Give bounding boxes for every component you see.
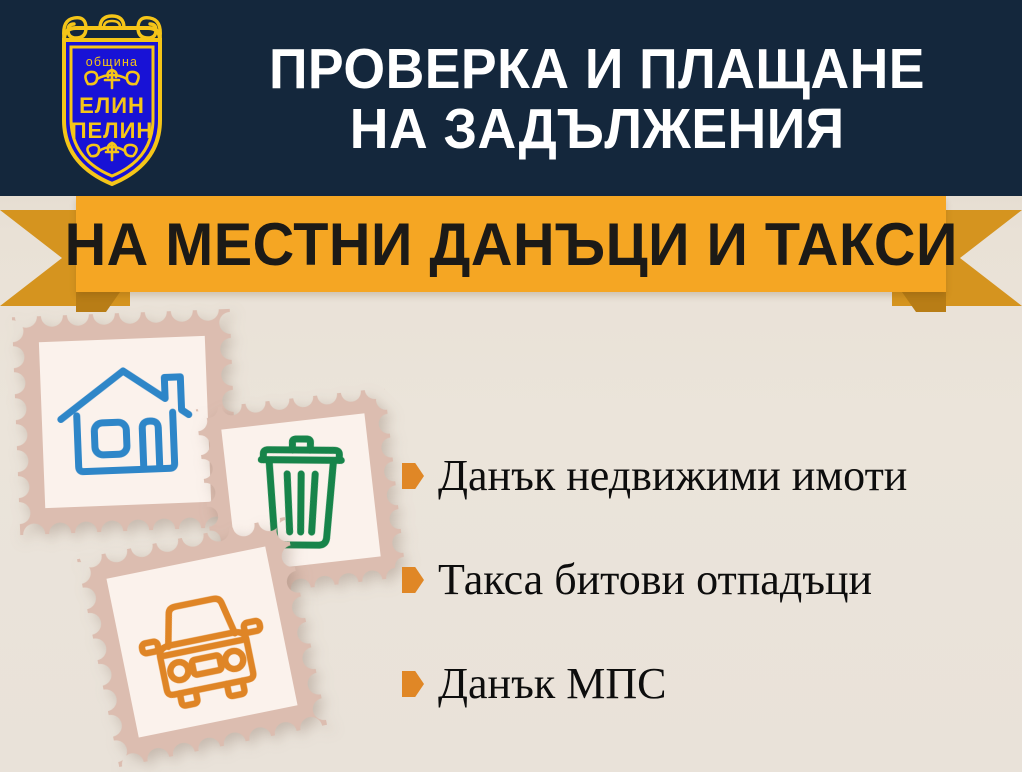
page-title-line-1: ПРОВЕРКА И ПЛАЩАНЕ <box>269 39 925 99</box>
svg-text:ЕЛИН: ЕЛИН <box>79 93 145 118</box>
svg-text:община: община <box>86 55 138 69</box>
page-title: ПРОВЕРКА И ПЛАЩАНЕ НА ЗАДЪЛЖЕНИЯ <box>188 16 1006 182</box>
list-item-label: Данък недвижими имоти <box>438 454 907 498</box>
list-item[interactable]: Данък недвижими имоти <box>402 424 1012 528</box>
list-item-label: Такса битови отпадъци <box>438 558 872 602</box>
list-item[interactable]: Данък МПС <box>402 632 1012 736</box>
municipality-logo: община ЕЛИН ПЕЛИН <box>42 8 182 190</box>
ribbon-label: НА МЕСТНИ ДАНЪЦИ И ТАКСИ <box>64 210 957 279</box>
page-title-line-2: НА ЗАДЪЛЖЕНИЯ <box>350 99 845 159</box>
arrow-bullet-icon <box>402 671 424 697</box>
list-item[interactable]: Такса битови отпадъци <box>402 528 1012 632</box>
vehicle-tax-stamp <box>77 517 327 767</box>
arrow-bullet-icon <box>402 567 424 593</box>
coat-of-arms-icon: община ЕЛИН ПЕЛИН <box>42 8 182 190</box>
subtitle-ribbon: НА МЕСТНИ ДАНЪЦИ И ТАКСИ <box>0 196 1022 308</box>
poster-canvas: община ЕЛИН ПЕЛИН <box>0 0 1022 772</box>
arrow-bullet-icon <box>402 463 424 489</box>
tax-types-list: Данък недвижими имоти Такса битови отпад… <box>402 424 1012 736</box>
list-item-label: Данък МПС <box>438 662 666 706</box>
svg-text:ПЕЛИН: ПЕЛИН <box>71 118 154 143</box>
ribbon-banner: НА МЕСТНИ ДАНЪЦИ И ТАКСИ <box>76 196 946 292</box>
